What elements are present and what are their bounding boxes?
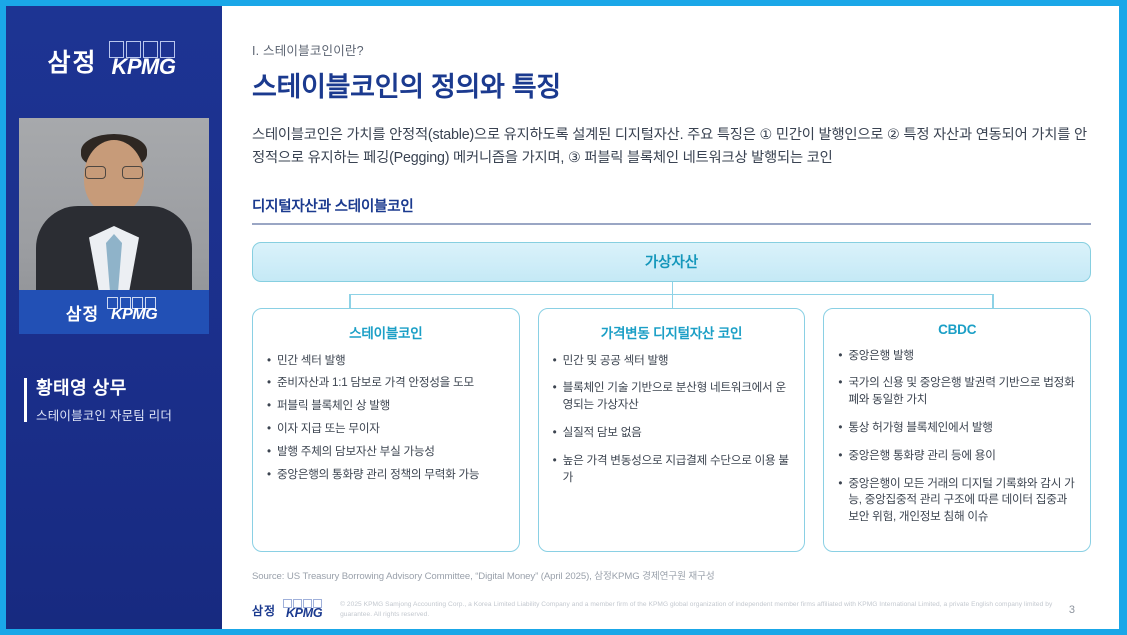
speaker-video-thumbnail[interactable]: 삼정 KPMG [19, 118, 209, 334]
diagram-card-cbdc: CBDC 중앙은행 발행 국가의 신용 및 중앙은행 발권력 기반으로 법정화폐… [823, 308, 1091, 552]
diagram-root-node: 가상자산 [252, 242, 1091, 282]
page-title: 스테이블코인의 정의와 특징 [252, 65, 1091, 104]
digital-asset-diagram: 가상자산 스테이블코인 민간 섹터 발행 준비자산과 1:1 담보로 가격 안정… [252, 242, 1091, 552]
card-title: 가격변동 디지털자산 코인 [553, 322, 791, 342]
speaker-name: 황태영 상무 [36, 374, 172, 400]
diagram-card-row: 스테이블코인 민간 섹터 발행 준비자산과 1:1 담보로 가격 안정성을 도모… [252, 308, 1091, 552]
list-item: 민간 섹터 발행 [267, 353, 505, 370]
brand-logo-kpmg: KPMG [107, 41, 181, 81]
list-item: 준비자산과 1:1 담보로 가격 안정성을 도모 [267, 375, 505, 392]
list-item: 중앙은행의 통화량 관리 정책의 무력화 가능 [267, 467, 505, 484]
list-item: 퍼블릭 블록체인 상 발행 [267, 398, 505, 415]
diagram-connectors [252, 282, 1091, 308]
source-note: Source: US Treasury Borrowing Advisory C… [252, 568, 1091, 582]
footer-logo-latin: KPMG [282, 606, 326, 620]
section-eyebrow: I. 스테이블코인이란? [252, 40, 1091, 59]
list-item: 국가의 신용 및 중앙은행 발권력 기반으로 법정화폐와 동일한 가치 [838, 375, 1076, 409]
connector-drop-2 [672, 294, 674, 308]
section-heading: 디지털자산과 스테이블코인 [252, 195, 1091, 225]
video-banner-latin: KPMG [106, 306, 162, 324]
slide-footer: 삼정 KPMG © 2025 KPMG Samjong Accounting C… [222, 591, 1119, 629]
connector-drop-1 [349, 294, 351, 308]
video-banner-kpmg: KPMG [106, 297, 162, 327]
slide-canvas: 삼정 KPMG 삼정 KPMG [6, 6, 1119, 629]
brand-logo-latin: KPMG [107, 54, 181, 80]
slide-content: I. 스테이블코인이란? 스테이블코인의 정의와 특징 스테이블코인은 가치를 … [222, 6, 1119, 629]
speaker-role: 스테이블코인 자문팀 리더 [36, 405, 172, 424]
diagram-root-label: 가상자산 [645, 251, 698, 272]
video-lower-third-banner: 삼정 KPMG [19, 290, 209, 334]
list-item: 중앙은행이 모든 거래의 디지털 기록화와 감시 가능, 중앙집중적 관리 구조… [838, 476, 1076, 526]
connector-drop-3 [992, 294, 994, 308]
diagram-card-volatile-asset: 가격변동 디지털자산 코인 민간 및 공공 섹터 발행 블록체인 기술 기반으로… [538, 308, 806, 552]
brand-logo-korean: 삼정 [47, 43, 97, 79]
copyright-text: © 2025 KPMG Samjong Accounting Corp., a … [340, 600, 1069, 620]
list-item: 높은 가격 변동성으로 지급결제 수단으로 이용 불가 [553, 453, 791, 487]
brand-logo: 삼정 KPMG [6, 6, 222, 116]
speaker-info: 황태영 상무 스테이블코인 자문팀 리더 [24, 374, 172, 424]
card-bullet-list: 민간 섹터 발행 준비자산과 1:1 담보로 가격 안정성을 도모 퍼블릭 블록… [267, 353, 505, 484]
list-item: 통상 허가형 블록체인에서 발행 [838, 420, 1076, 437]
glasses-icon [85, 166, 143, 180]
list-item: 민간 및 공공 섹터 발행 [553, 353, 791, 370]
list-item: 실질적 담보 없음 [553, 425, 791, 442]
list-item: 중앙은행 통화량 관리 등에 용이 [838, 448, 1076, 465]
footer-logo-korean: 삼정 [252, 602, 276, 619]
slide-frame: 삼정 KPMG 삼정 KPMG [0, 0, 1127, 635]
card-title: CBDC [838, 322, 1076, 337]
lede-paragraph: 스테이블코인은 가치를 안정적(stable)으로 유지하도록 설계된 디지털자… [252, 124, 1090, 171]
left-sidebar: 삼정 KPMG 삼정 KPMG [6, 6, 222, 629]
list-item: 블록체인 기술 기반으로 분산형 네트워크에서 운영되는 가상자산 [553, 380, 791, 414]
card-bullet-list: 민간 및 공공 섹터 발행 블록체인 기술 기반으로 분산형 네트워크에서 운영… [553, 353, 791, 487]
footer-logo: 삼정 KPMG [252, 599, 326, 621]
footer-logo-kpmg: KPMG [282, 599, 326, 621]
video-banner-korean: 삼정 [66, 300, 99, 325]
card-title: 스테이블코인 [267, 322, 505, 342]
list-item: 발행 주체의 담보자산 부실 가능성 [267, 444, 505, 461]
page-number: 3 [1069, 604, 1103, 616]
list-item: 이자 지급 또는 무이자 [267, 421, 505, 438]
card-bullet-list: 중앙은행 발행 국가의 신용 및 중앙은행 발권력 기반으로 법정화폐와 동일한… [838, 348, 1076, 526]
diagram-card-stablecoin: 스테이블코인 민간 섹터 발행 준비자산과 1:1 담보로 가격 안정성을 도모… [252, 308, 520, 552]
list-item: 중앙은행 발행 [838, 348, 1076, 365]
